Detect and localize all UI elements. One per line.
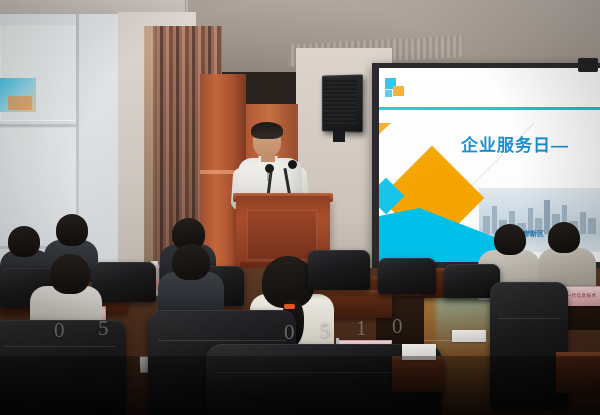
- chair-stitching: [4, 346, 116, 347]
- loudspeaker-grille: [323, 78, 357, 126]
- hair-tie: [284, 304, 295, 309]
- ceiling-right-panel: [185, 0, 600, 72]
- attendee-head-6: [548, 222, 580, 253]
- screenshot-root: 企业服务日— 青岛西海岸新区 O: [0, 0, 600, 415]
- ceiling-projector-icon: [578, 58, 598, 72]
- attendee-head-0: [8, 226, 40, 257]
- desk-foreground-right: [392, 362, 444, 392]
- chair-stitching: [158, 340, 286, 341]
- deco-square-cyan-small: [385, 90, 392, 97]
- deco-cyan-rule: [379, 107, 600, 110]
- chair-stitching: [498, 318, 560, 319]
- black-leather-chair: [308, 250, 370, 290]
- glass-mullion-horizontal: [0, 124, 79, 127]
- attendee-head-2b: [172, 244, 210, 280]
- black-leather-chair-foreground: [0, 320, 126, 415]
- black-leather-chair: [378, 258, 436, 294]
- podium-front-panel: [247, 210, 317, 260]
- microphone-icon: [265, 164, 274, 173]
- desk-far-corner: [556, 359, 600, 393]
- document-sheet: [452, 330, 486, 342]
- microphone-icon-secondary: [288, 160, 297, 169]
- deco-square-orange: [393, 86, 404, 96]
- attendee-head-1: [56, 214, 88, 246]
- document-sheet: [402, 344, 436, 360]
- glass-reflection-warm: [8, 96, 32, 110]
- black-leather-chair: [92, 262, 156, 302]
- attendee-head-3: [50, 254, 90, 294]
- attendee-head-5: [494, 224, 526, 255]
- deco-triangle-orange: [379, 123, 391, 138]
- slide-title: 企业服务日—: [461, 131, 569, 156]
- loudspeaker-bracket: [333, 128, 345, 142]
- presenter-hair: [251, 122, 283, 139]
